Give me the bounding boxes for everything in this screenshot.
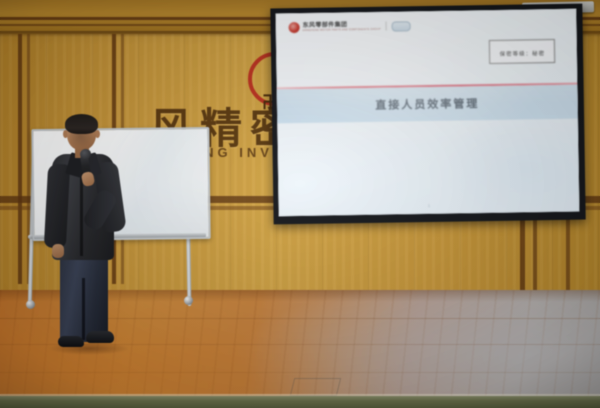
presenter-leg-separation	[82, 278, 85, 340]
presenter	[44, 116, 130, 351]
whiteboard-caster-right	[184, 296, 193, 305]
stage-edge	[0, 396, 600, 408]
slide-page-number: 1	[428, 203, 430, 208]
presenter-shoe-left	[58, 336, 84, 347]
slide-title: 直接人员效率管理	[375, 95, 479, 113]
presenter-hair	[65, 114, 98, 134]
slide-logo-text-block: 东风零部件集团 DONGFENG MOTOR PARTS AND COMPONE…	[303, 21, 381, 32]
slide-secondary-logo-icon	[392, 21, 411, 31]
projected-slide: 东风零部件集团 DONGFENG MOTOR PARTS AND COMPONE…	[275, 9, 579, 217]
presenter-arm-left	[44, 163, 70, 248]
slide-logo-divider	[386, 22, 387, 31]
slide-company-logo: 东风零部件集团 DONGFENG MOTOR PARTS AND COMPONE…	[289, 20, 411, 33]
photograph-conference-presentation: 风精密 NGFENG INVE 卍 东风零部件集团 DONGFENG MOTOR…	[0, 0, 600, 408]
presenter-hand-left	[52, 244, 64, 258]
projection-screen: 东风零部件集团 DONGFENG MOTOR PARTS AND COMPONE…	[270, 4, 585, 225]
slide-confidentiality-badge: 保密等级：秘密	[489, 39, 555, 64]
slide-logo-mark-icon	[289, 22, 300, 33]
whiteboard-caster-left	[26, 300, 35, 309]
projection-screen-surface: 东风零部件集团 DONGFENG MOTOR PARTS AND COMPONE…	[275, 9, 579, 217]
presenter-shoe-right	[86, 331, 114, 343]
slide-confidentiality-text: 保密等级：秘密	[500, 51, 546, 58]
floor-seam-3	[0, 372, 600, 373]
slide-title-band: 直接人员效率管理	[277, 85, 578, 124]
slide-logo-latin: DONGFENG MOTOR PARTS AND COMPONENTS GROU…	[303, 28, 381, 32]
